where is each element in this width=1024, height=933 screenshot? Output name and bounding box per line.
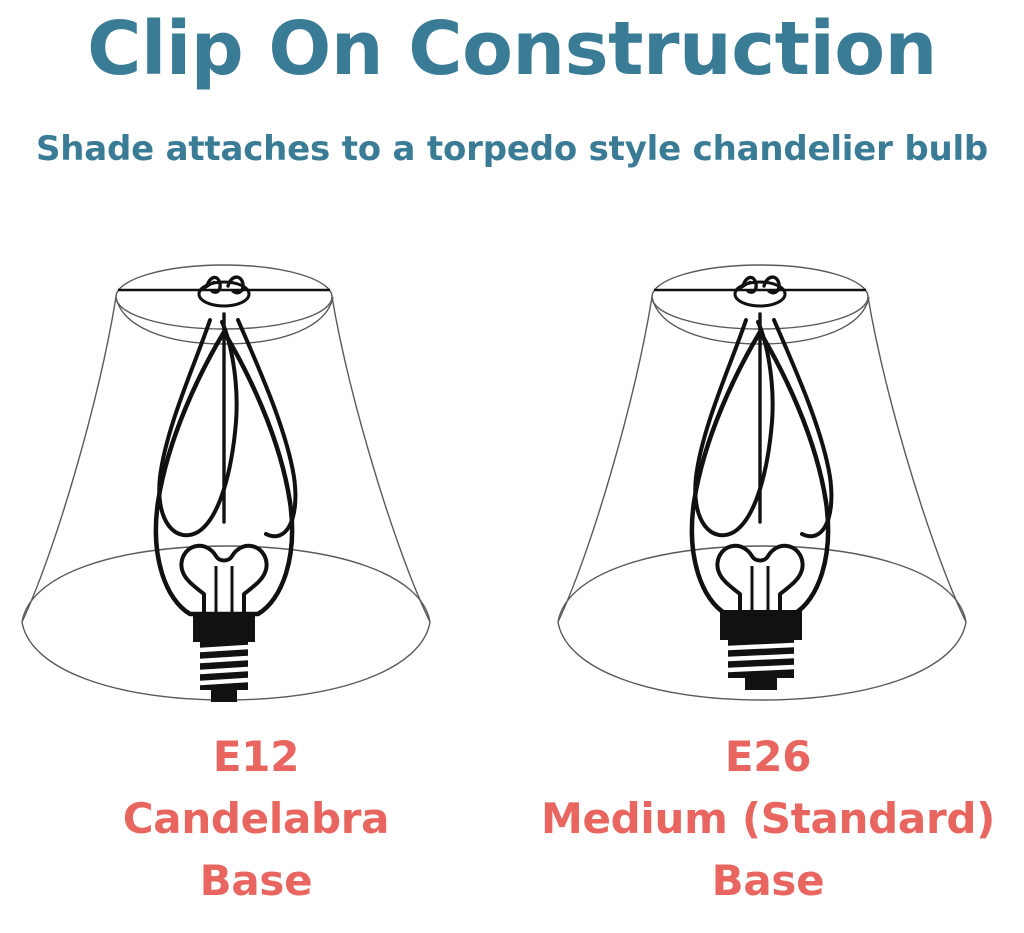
page-title: Clip On Construction xyxy=(0,6,1024,92)
caption-e12-suffix: Base xyxy=(0,850,512,912)
clip-collar xyxy=(735,277,785,306)
clip-on-shade-e12-icon xyxy=(0,222,512,722)
caption-e26: E26 Medium (Standard) Base xyxy=(512,726,1024,912)
page-subtitle: Shade attaches to a torpedo style chande… xyxy=(0,128,1024,170)
e26-medium-screw-base xyxy=(720,610,802,690)
bulb-filament xyxy=(717,546,802,614)
caption-e12: E12 Candelabra Base xyxy=(0,726,512,912)
caption-e26-suffix: Base xyxy=(512,850,1024,912)
caption-row: E12 Candelabra Base E26 Medium (Standard… xyxy=(0,726,1024,933)
e12-candelabra-screw-base xyxy=(193,612,255,702)
clip-on-shade-e26-icon xyxy=(512,222,1024,722)
caption-e12-name: Candelabra xyxy=(0,788,512,850)
caption-e26-code: E26 xyxy=(512,726,1024,788)
illustration-row xyxy=(0,222,1024,722)
caption-e26-name: Medium (Standard) xyxy=(512,788,1024,850)
caption-e12-code: E12 xyxy=(0,726,512,788)
figure-e12 xyxy=(0,222,512,722)
clip-collar xyxy=(199,277,249,306)
poster-root: Clip On Construction Shade attaches to a… xyxy=(0,0,1024,933)
figure-e26 xyxy=(512,222,1024,722)
bulb-filament xyxy=(181,546,266,614)
